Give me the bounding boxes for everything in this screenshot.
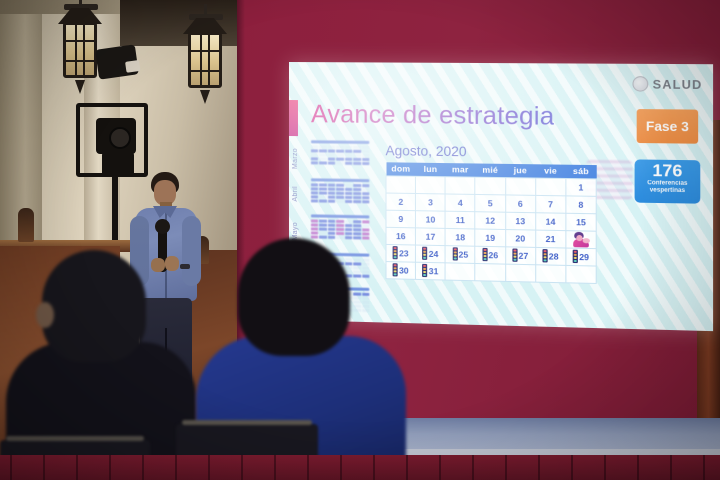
calendar-cell-day-12[interactable]: 12 — [475, 211, 505, 229]
carpet-pleat — [109, 455, 111, 480]
carpet-pleat — [274, 455, 276, 480]
calendar-cell-day-18[interactable]: 18 — [445, 228, 475, 246]
calendar-cell-empty — [505, 177, 535, 195]
calendar-cell-empty — [416, 176, 446, 194]
calendar-cell-day-10[interactable]: 10 — [416, 210, 446, 228]
calendar-day-content: 11 — [446, 214, 475, 225]
semaforo-icon — [542, 249, 547, 262]
calendar-cell-day-15[interactable]: 15 — [566, 213, 596, 231]
carpet-pleat — [241, 455, 243, 480]
calendar-day-content: 5 — [476, 197, 505, 208]
calendar-day-number: 7 — [548, 199, 553, 209]
calendar-cell-day-9[interactable]: 9 — [386, 210, 416, 228]
calendar-grid: domlunmarmiéjueviesáb 123456789101112131… — [385, 162, 596, 283]
calendar-cell-empty — [535, 264, 565, 282]
page-title: Avance de estrategia — [311, 100, 554, 132]
calendar-day-content: 20 — [506, 233, 535, 244]
calendar-cell-day-3[interactable]: 3 — [416, 193, 446, 211]
carpet-pleat — [208, 455, 210, 480]
calendar-day-content: 4 — [446, 197, 475, 208]
calendar-day-content: 1 — [566, 182, 595, 193]
calendar-day-content: 13 — [506, 215, 535, 226]
calendar-day-content: 14 — [536, 216, 565, 227]
calendar-day-content: 8 — [566, 199, 595, 210]
calendar-cell-empty — [566, 265, 596, 283]
month-label: Marzo — [292, 148, 299, 169]
calendar-day-number: 18 — [455, 232, 465, 242]
calendar-day-content: 10 — [416, 214, 445, 225]
calendar-cell-day-1[interactable]: 1 — [566, 178, 596, 196]
calendar-cell-day-21[interactable]: 21 — [535, 230, 565, 248]
calendar-cell-empty — [386, 175, 416, 193]
calendar-day-number: 25 — [458, 249, 468, 259]
calendar-day-content: 27 — [506, 248, 535, 262]
month-mini-marzo: Marzo — [295, 140, 371, 141]
calendar-cell-day-13[interactable]: 13 — [505, 212, 535, 230]
conferencias-label: Conferencias vespertinas — [635, 180, 701, 195]
mini-calendar — [311, 178, 369, 204]
calendar-day-number: 24 — [429, 248, 439, 258]
calendar-day-content: 31 — [416, 264, 445, 278]
semaforo-icon — [452, 247, 457, 260]
calendar-cell-day-8[interactable]: 8 — [566, 195, 596, 213]
calendar-day-content: 25 — [446, 247, 475, 261]
character-avatar-icon — [572, 231, 590, 247]
stage-light-icon — [95, 44, 139, 79]
carpet-pleat — [142, 455, 144, 480]
semaforo-icon — [573, 250, 578, 263]
month-mini-mayo: Mayo — [295, 214, 371, 215]
semaforo-icon — [512, 248, 517, 261]
calendar-cell-day-27[interactable]: 27 — [505, 246, 535, 264]
calendar-day-content: 26 — [476, 248, 505, 262]
calendar-weekday-mié: mié — [475, 163, 505, 177]
calendar-cell-day-6[interactable]: 6 — [505, 194, 535, 212]
calendar-day-number: 28 — [549, 251, 559, 261]
calendar-cell-day-11[interactable]: 11 — [445, 211, 475, 229]
calendar-day-number: 13 — [515, 215, 525, 225]
calendar-weekday-jue: jue — [505, 164, 535, 178]
month-mini-abril: Abril — [295, 178, 371, 179]
calendar-cell-empty — [445, 176, 475, 194]
conferencias-count: 176 — [635, 161, 701, 180]
calendar-day-content: 15 — [566, 216, 595, 227]
calendar-day-number: 26 — [488, 250, 498, 260]
stage-carpet — [0, 455, 720, 480]
wood-finial — [18, 208, 34, 242]
conference-room-scene: Avance de estrategia SALUD Fase 3 176 Co… — [0, 0, 720, 480]
calendar-cell-day-24[interactable]: 24 — [416, 245, 446, 263]
calendar-cell-day-31[interactable]: 31 — [416, 262, 446, 280]
carpet-pleat — [538, 455, 540, 480]
calendar-cell-day-26[interactable]: 26 — [475, 246, 505, 264]
calendar-day-content: 18 — [446, 231, 475, 242]
calendar-month-title: Agosto, 2020 — [385, 143, 596, 161]
calendar-day-number: 20 — [515, 233, 525, 243]
ceiling-arch-shadow — [120, 0, 250, 46]
calendar-cell-day-4[interactable]: 4 — [445, 193, 475, 211]
broadcast-camera-icon — [96, 118, 136, 154]
calendar-day-number: 10 — [426, 214, 436, 224]
carpet-pleat — [703, 455, 705, 480]
calendar-cell-empty — [475, 263, 505, 281]
calendar-day-content: 12 — [476, 215, 505, 226]
calendar-day-number: 11 — [456, 214, 465, 224]
calendar-day-number: 14 — [546, 216, 556, 226]
calendar-day-number: 29 — [579, 251, 589, 261]
carpet-pleat — [670, 455, 672, 480]
semaforo-icon — [482, 248, 487, 261]
month-label: Abril — [292, 186, 299, 202]
calendar-cell-empty — [535, 178, 565, 196]
calendar-day-number: 6 — [518, 198, 523, 208]
calendar-cell-day-25[interactable]: 25 — [445, 245, 475, 263]
calendar-day-content: 3 — [416, 197, 445, 208]
calendar-day-number: 5 — [488, 198, 493, 208]
calendar-day-number: 2 — [398, 196, 403, 206]
calendar-day-number: 4 — [458, 197, 463, 207]
carpet-pleat — [472, 455, 474, 480]
carpet-pleat — [76, 455, 78, 480]
calendar-weekday-vie: vie — [535, 164, 565, 178]
carpet-pleat — [307, 455, 309, 480]
carpet-pleat — [43, 455, 45, 480]
semaforo-icon — [423, 264, 428, 277]
calendar-cell-day-5[interactable]: 5 — [475, 194, 505, 212]
carpet-pleat — [604, 455, 606, 480]
calendar-week-row: 3031 — [386, 261, 596, 283]
carpet-pleat — [637, 455, 639, 480]
calendar-cell-day-14[interactable]: 14 — [535, 212, 565, 230]
carpet-pleat — [406, 455, 408, 480]
calendar-day-number: 27 — [519, 250, 529, 260]
calendar-day-number: 1 — [578, 182, 583, 192]
calendar-day-content: 19 — [476, 232, 505, 243]
calendar-day-content: 28 — [536, 249, 565, 263]
calendar-day-content: 6 — [506, 198, 535, 209]
carpet-pleat — [571, 455, 573, 480]
calendar-cell-day-17[interactable]: 17 — [416, 227, 446, 245]
semaforo-icon — [423, 247, 428, 260]
title-accent-bar — [289, 100, 298, 136]
calendar-day-content: 24 — [416, 247, 445, 261]
calendar-cell-empty — [445, 262, 475, 280]
calendar-weekday-lun: lun — [416, 163, 446, 177]
calendar-cell-day-7[interactable]: 7 — [535, 195, 565, 213]
calendar-day-number: 8 — [578, 199, 583, 209]
calendar-day-content: 29 — [566, 250, 595, 264]
carpet-pleat — [373, 455, 375, 480]
calendar-cell-day-28[interactable]: 28 — [535, 247, 565, 265]
carpet-pleat — [505, 455, 507, 480]
carpet-pleat — [340, 455, 342, 480]
status-badge-conferencias: 176 Conferencias vespertinas — [635, 159, 701, 203]
calendar-cell-day-20[interactable]: 20 — [505, 229, 535, 247]
calendar-day-content: 17 — [416, 231, 445, 242]
calendar-day-number: 17 — [426, 231, 436, 241]
calendar-day-number: 31 — [429, 266, 439, 276]
calendar-day-number: 19 — [485, 232, 495, 242]
carpet-pleat — [439, 455, 441, 480]
calendar-weekday-mar: mar — [445, 163, 475, 177]
calendar-cell-empty — [475, 177, 505, 195]
calendar-weekday-sáb: sáb — [566, 165, 596, 179]
calendar-cell-day-22[interactable] — [566, 230, 596, 248]
calendar-day-content: 7 — [536, 198, 565, 209]
calendar-cell-day-2[interactable]: 2 — [386, 193, 416, 211]
mini-calendar — [311, 140, 369, 166]
salud-logo-text: SALUD — [653, 77, 703, 92]
status-badge-fase: Fase 3 — [637, 109, 698, 144]
calendar-cell-day-29[interactable]: 29 — [566, 248, 596, 266]
calendar-day-number: 15 — [576, 217, 586, 227]
calendar-day-number: 3 — [428, 197, 433, 207]
calendar-cell-day-19[interactable]: 19 — [475, 228, 505, 246]
calendar-day-number: 12 — [485, 215, 495, 225]
calendar-day-number: 9 — [398, 213, 403, 223]
salud-emblem-icon — [633, 76, 649, 92]
calendar-day-content: 21 — [536, 233, 565, 244]
calendar-day-number: 21 — [546, 233, 556, 243]
calendar-day-content: 9 — [387, 213, 416, 224]
calendar-weekday-dom: dom — [386, 162, 416, 176]
carpet-pleat — [175, 455, 177, 480]
salud-logo: SALUD — [633, 76, 703, 92]
calendar-cell-empty — [505, 264, 535, 282]
calendar: Agosto, 2020 domlunmarmiéjueviesáb 12345… — [385, 143, 596, 283]
calendar-day-content: 2 — [387, 196, 416, 207]
carpet-pleat — [10, 455, 12, 480]
